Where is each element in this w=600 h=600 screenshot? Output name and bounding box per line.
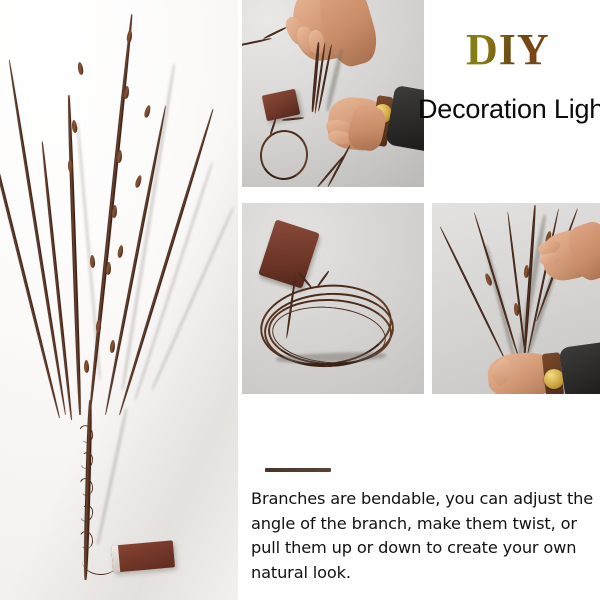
section-divider — [265, 468, 331, 472]
product-headline: Decoration Light — [418, 95, 600, 125]
diy-title: DIY — [466, 28, 550, 72]
product-description: Branches are bendable, you can adjust th… — [251, 487, 596, 586]
sleeve — [559, 342, 600, 394]
photo-hands-bending-branches — [242, 0, 424, 187]
wall-shading — [0, 0, 238, 600]
photo-coiled-branches — [242, 203, 424, 394]
battery-box — [111, 540, 175, 572]
product-collage-page: DIY DIY Decoration Light Branches are be… — [0, 0, 600, 600]
battery-box-lid — [111, 545, 120, 573]
main-product-photo — [0, 0, 238, 600]
photo-hands-arranging — [432, 203, 600, 394]
